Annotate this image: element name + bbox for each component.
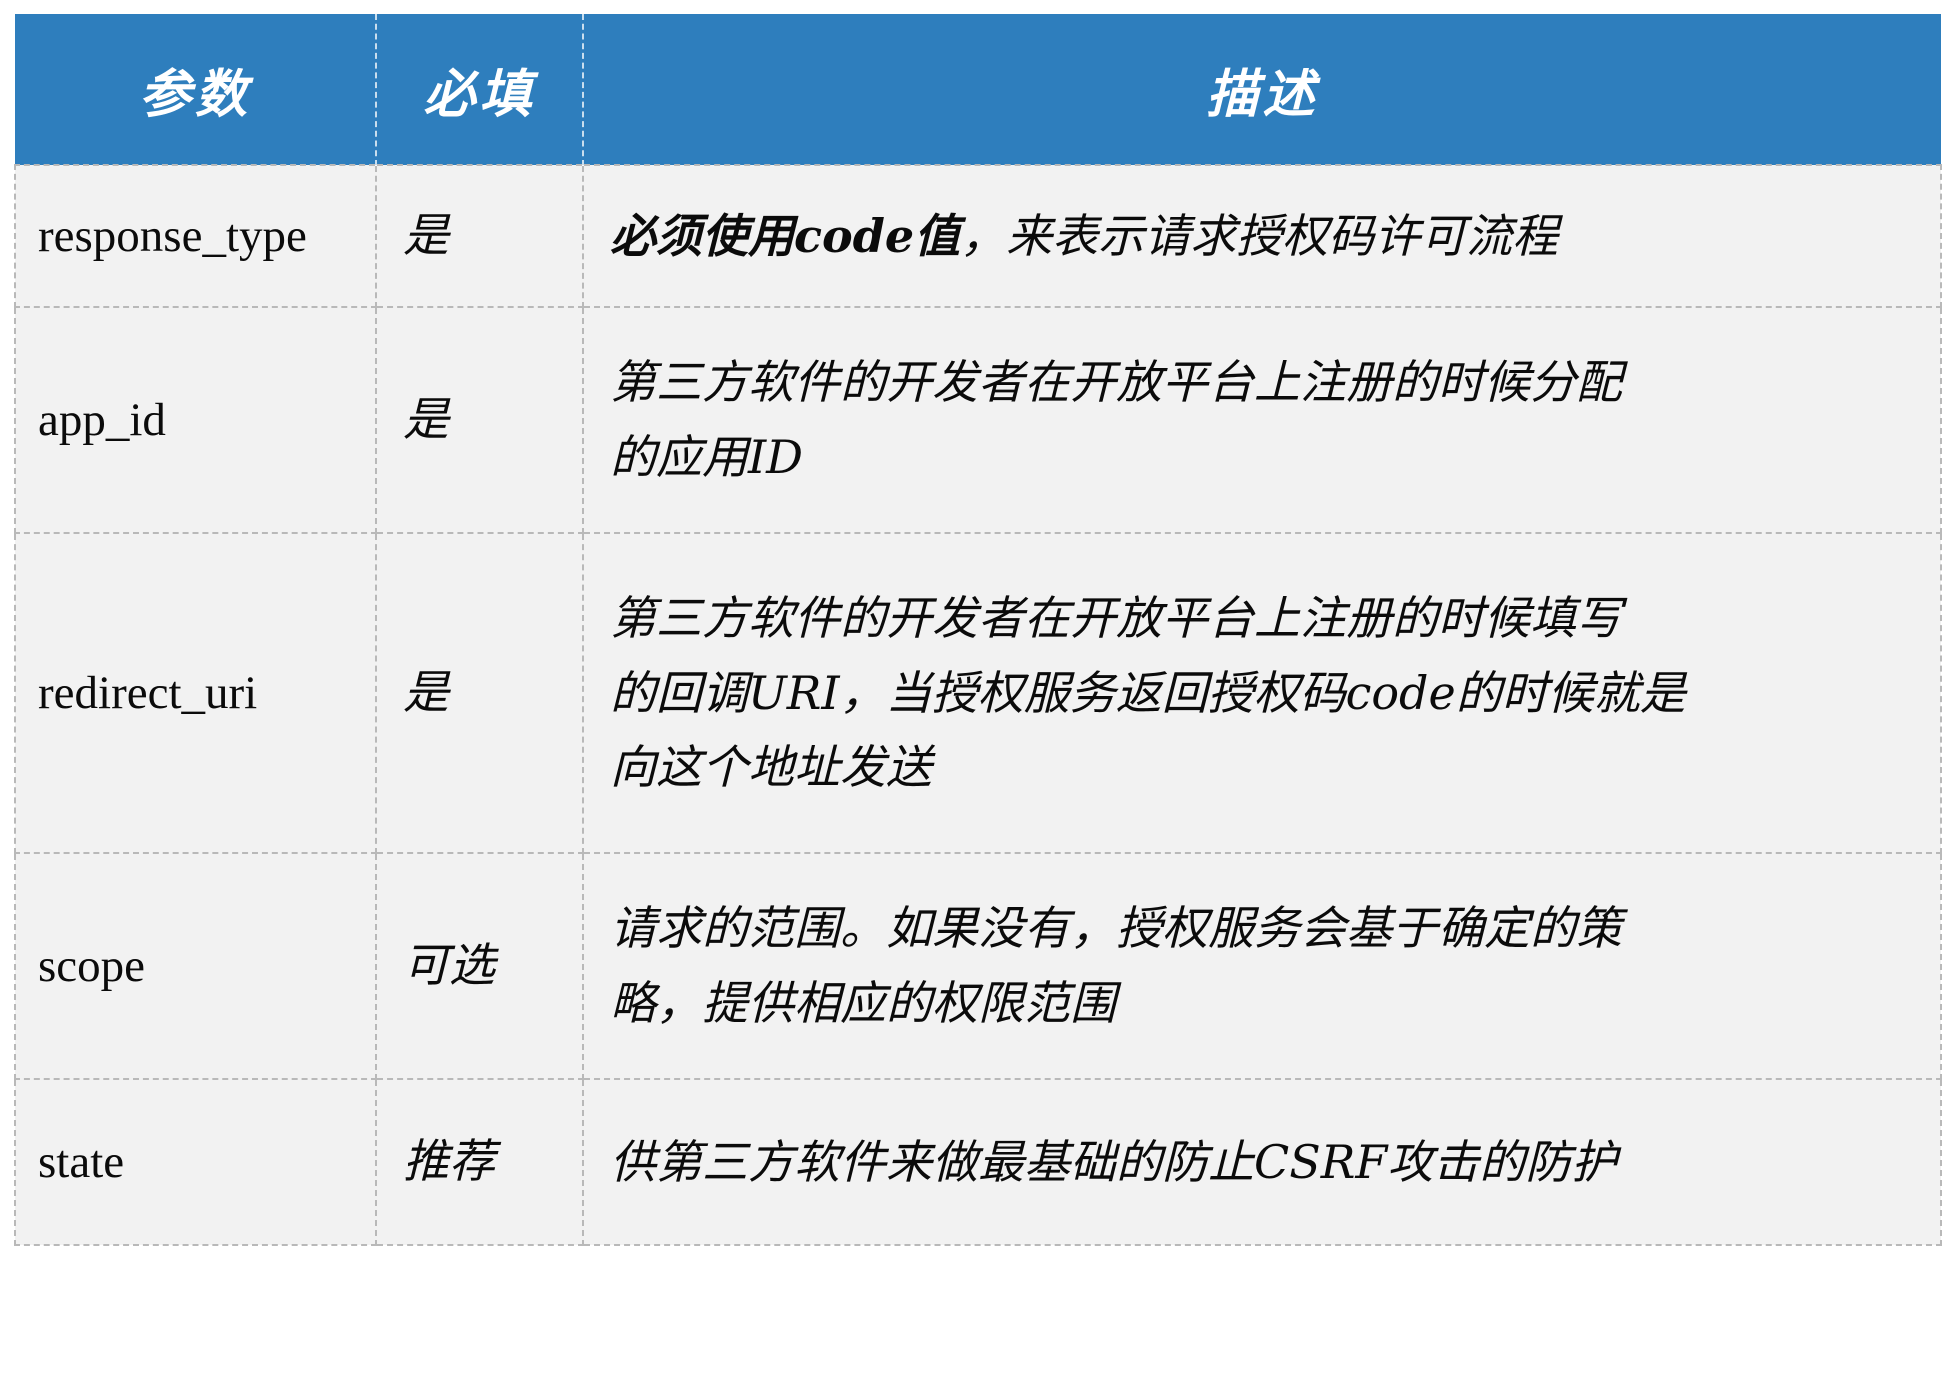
column-header-description-label: 描述 [1206, 64, 1318, 125]
cell-required-label: 可选 [403, 938, 495, 992]
description-line: 请求的范围。如果没有，授权服务会基于确定的策 [610, 891, 1922, 966]
description-line: 向这个地址发送 [610, 730, 1922, 805]
column-header-description: 描述 [583, 14, 1941, 165]
table-row: state 推荐 供第三方软件来做最基础的防止CSRF攻击的防护 [15, 1079, 1941, 1245]
table-header: 参数 必填 描述 [15, 14, 1941, 165]
description-line: 的回调URI，当授权服务返回授权码code的时候就是 [610, 656, 1922, 731]
description-line: 第三方软件的开发者在开放平台上注册的时候填写 [610, 581, 1922, 656]
cell-required: 可选 [376, 853, 583, 1079]
cell-required: 是 [376, 307, 583, 533]
cell-required: 是 [376, 533, 583, 853]
table-body: response_type 是 必须使用code值，来表示请求授权码许可流程 a… [15, 165, 1941, 1245]
description-line: 必须使用code值，来表示请求授权码许可流程 [610, 199, 1922, 274]
table-header-row: 参数 必填 描述 [15, 14, 1941, 165]
cell-description: 第三方软件的开发者在开放平台上注册的时候分配 的应用ID [583, 307, 1941, 533]
cell-required-label: 推荐 [403, 1134, 495, 1188]
cell-description: 请求的范围。如果没有，授权服务会基于确定的策 略，提供相应的权限范围 [583, 853, 1941, 1079]
parameter-table-container: 参数 必填 描述 response_type 是 必须使用code值，来表示请求… [0, 0, 1956, 1377]
cell-param: scope [15, 853, 376, 1079]
cell-param: app_id [15, 307, 376, 533]
cell-description: 必须使用code值，来表示请求授权码许可流程 [583, 165, 1941, 307]
description-line: 第三方软件的开发者在开放平台上注册的时候分配 [610, 345, 1922, 420]
cell-required-label: 是 [403, 208, 449, 262]
cell-required: 是 [376, 165, 583, 307]
table-row: scope 可选 请求的范围。如果没有，授权服务会基于确定的策 略，提供相应的权… [15, 853, 1941, 1079]
description-line: 的应用ID [610, 420, 1922, 495]
description-rest: ，来表示请求授权码许可流程 [960, 209, 1558, 263]
column-header-required: 必填 [376, 14, 583, 165]
cell-required: 推荐 [376, 1079, 583, 1245]
table-row: response_type 是 必须使用code值，来表示请求授权码许可流程 [15, 165, 1941, 307]
table-row: app_id 是 第三方软件的开发者在开放平台上注册的时候分配 的应用ID [15, 307, 1941, 533]
oauth-parameter-table: 参数 必填 描述 response_type 是 必须使用code值，来表示请求… [14, 14, 1942, 1246]
column-header-required-label: 必填 [423, 64, 535, 125]
cell-param: redirect_uri [15, 533, 376, 853]
cell-param: state [15, 1079, 376, 1245]
table-row: redirect_uri 是 第三方软件的开发者在开放平台上注册的时候填写 的回… [15, 533, 1941, 853]
cell-description: 第三方软件的开发者在开放平台上注册的时候填写 的回调URI，当授权服务返回授权码… [583, 533, 1941, 853]
description-bold-segment: 必须使用code值 [610, 209, 960, 263]
description-line: 供第三方软件来做最基础的防止CSRF攻击的防护 [610, 1125, 1922, 1200]
cell-description: 供第三方软件来做最基础的防止CSRF攻击的防护 [583, 1079, 1941, 1245]
cell-required-label: 是 [403, 392, 449, 446]
column-header-param-label: 参数 [139, 64, 251, 125]
column-header-param: 参数 [15, 14, 376, 165]
description-line: 略，提供相应的权限范围 [610, 966, 1922, 1041]
cell-required-label: 是 [403, 665, 449, 719]
cell-param: response_type [15, 165, 376, 307]
